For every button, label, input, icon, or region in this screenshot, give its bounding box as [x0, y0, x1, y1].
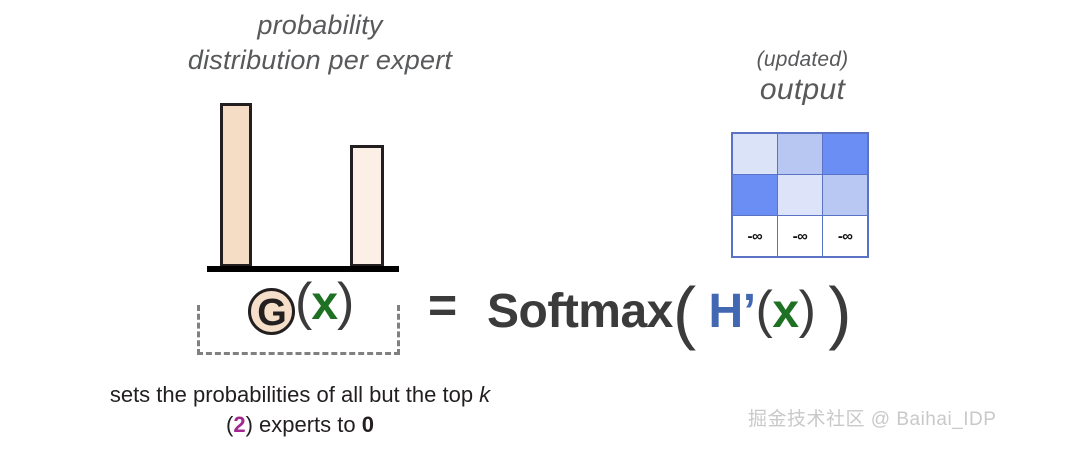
probability-bar-chart — [207, 95, 399, 275]
matrix-cell-3 — [733, 175, 777, 215]
topk-explanation-caption: sets the probabilities of all but the to… — [100, 380, 500, 439]
probability-distribution-caption: probability distribution per expert — [120, 8, 520, 77]
matrix-cell-0 — [733, 134, 777, 174]
output-label: (updated) output — [690, 48, 915, 108]
bar-expert-3 — [350, 145, 384, 267]
caption-line-1: probability — [257, 10, 382, 40]
output-label-updated: (updated) — [690, 48, 915, 72]
caption-k-symbol: k — [479, 382, 490, 407]
matrix-cell-2 — [823, 134, 867, 174]
caption-zero-value: 0 — [362, 412, 374, 437]
caption-part-1: sets the probabilities of all but the to… — [110, 382, 479, 407]
h-argument-x: x — [772, 285, 798, 338]
matrix-cell-5 — [823, 175, 867, 215]
matrix-cell-4 — [778, 175, 822, 215]
matrix-cell-8: -∞ — [823, 216, 867, 256]
output-label-output: output — [690, 72, 915, 108]
output-matrix: -∞-∞-∞ — [731, 132, 869, 258]
equals-sign: = — [428, 276, 457, 334]
softmax-close-paren: ) — [828, 273, 851, 351]
matrix-cell-6: -∞ — [733, 216, 777, 256]
softmax-open-paren: ( — [673, 273, 696, 351]
h-prime-symbol: H’ — [709, 285, 756, 338]
matrix-cell-7: -∞ — [778, 216, 822, 256]
bar-expert-1 — [220, 103, 252, 267]
matrix-cell-1 — [778, 134, 822, 174]
caption-k-value: 2 — [233, 412, 245, 437]
caption-line-2: distribution per expert — [188, 45, 452, 75]
equation-row: G(x) = Softmax( H’(x) ) — [0, 272, 1080, 352]
dashed-annotation-bracket — [197, 305, 400, 355]
watermark-text: 掘金技术社区 @ Baihai_IDP — [748, 404, 996, 431]
diagram-canvas: probability distribution per expert (upd… — [0, 0, 1080, 460]
h-open-paren: ( — [756, 281, 773, 339]
caption-part-3: ) experts to — [246, 412, 362, 437]
h-close-paren: ) — [799, 281, 816, 339]
softmax-expression: Softmax( H’(x) ) — [487, 272, 851, 352]
softmax-label: Softmax — [487, 285, 673, 338]
